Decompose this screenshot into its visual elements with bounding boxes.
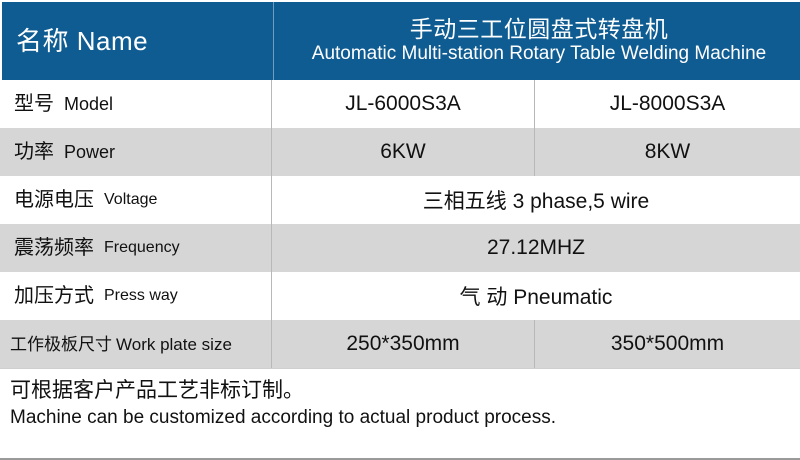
row-value-work-plate-a: 250*350mm	[272, 320, 535, 368]
row-label-english: Work plate size	[116, 336, 232, 353]
table-row: 震荡频率 Frequency 27.12MHZ	[0, 224, 800, 272]
row-label-chinese: 加压方式	[14, 286, 94, 306]
specification-table: 名称 Name 手动三工位圆盘式转盘机 Automatic Multi-stat…	[0, 0, 800, 460]
table-row: 电源电压 Voltage 三相五线 3 phase,5 wire	[0, 176, 800, 224]
spec-rows: 型号 Model JL-6000S3A JL-8000S3A 功率 Power …	[0, 80, 800, 368]
row-label-work-plate-size: 工作极板尺寸 Work plate size	[0, 320, 272, 368]
customization-note-english: Machine can be customized according to a…	[10, 406, 800, 431]
row-value-power-b: 8KW	[535, 128, 800, 176]
row-value-work-plate-b: 350*500mm	[535, 320, 800, 368]
row-value-power-a: 6KW	[272, 128, 535, 176]
product-title-chinese: 手动三工位圆盘式转盘机	[410, 17, 669, 43]
header-title-cell: 手动三工位圆盘式转盘机 Automatic Multi-station Rota…	[274, 2, 800, 80]
row-value-voltage: 三相五线 3 phase,5 wire	[272, 176, 800, 224]
row-label-model: 型号 Model	[0, 80, 272, 128]
row-label-chinese: 电源电压	[14, 190, 94, 210]
table-row: 型号 Model JL-6000S3A JL-8000S3A	[0, 80, 800, 128]
row-value-model-b: JL-8000S3A	[535, 80, 800, 128]
row-label-chinese: 型号	[14, 94, 54, 114]
row-label-chinese: 震荡频率	[14, 238, 94, 258]
row-label-chinese: 工作极板尺寸	[10, 336, 112, 353]
row-label-english: Power	[64, 143, 115, 161]
row-label-english: Voltage	[104, 192, 157, 208]
header-name-cell: 名称 Name	[2, 2, 274, 80]
row-label-power: 功率 Power	[0, 128, 272, 176]
table-row: 加压方式 Press way 气 动 Pneumatic	[0, 272, 800, 320]
row-label-chinese: 功率	[14, 142, 54, 162]
table-row: 功率 Power 6KW 8KW	[0, 128, 800, 176]
row-value-frequency: 27.12MHZ	[272, 224, 800, 272]
table-row: 工作极板尺寸 Work plate size 250*350mm 350*500…	[0, 320, 800, 368]
row-value-model-a: JL-6000S3A	[272, 80, 535, 128]
row-value-press-way: 气 动 Pneumatic	[272, 272, 800, 320]
row-label-english: Press way	[104, 288, 178, 304]
row-label-english: Frequency	[104, 240, 180, 256]
row-label-voltage: 电源电压 Voltage	[0, 176, 272, 224]
row-label-press-way: 加压方式 Press way	[0, 272, 272, 320]
row-label-frequency: 震荡频率 Frequency	[0, 224, 272, 272]
product-title-english: Automatic Multi-station Rotary Table Wel…	[312, 43, 766, 65]
table-header-row: 名称 Name 手动三工位圆盘式转盘机 Automatic Multi-stat…	[0, 0, 800, 80]
customization-note-chinese: 可根据客户产品工艺非标订制。	[10, 378, 800, 404]
customization-note: 可根据客户产品工艺非标订制。 Machine can be customized…	[0, 368, 800, 460]
row-label-english: Model	[64, 95, 113, 113]
header-name-label: 名称 Name	[16, 27, 148, 56]
